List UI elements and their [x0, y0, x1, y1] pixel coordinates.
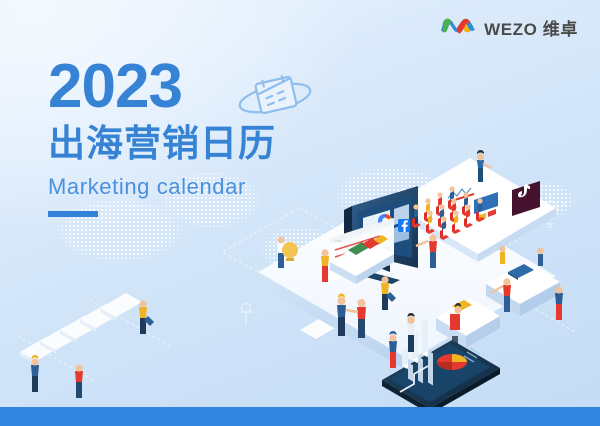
wezo-ribbon-logo [441, 14, 477, 40]
tablet-person-a [389, 331, 397, 368]
brand-logo[interactable]: WEZO 维卓 [441, 14, 578, 40]
footer-bar [0, 407, 600, 426]
page-title-year: 2023 [48, 56, 276, 118]
brand-wordmark: WEZO 维卓 [484, 15, 578, 40]
facebook-logo [398, 219, 410, 232]
lounge-person-a [321, 249, 329, 282]
pedestrian-b [75, 364, 83, 398]
title-underline-rule [48, 211, 98, 217]
pedestrian-c [139, 300, 154, 334]
page-title-cn: 出海营销日历 [48, 124, 276, 164]
pedestrian-e [555, 286, 563, 320]
pedestrian-a [31, 355, 39, 392]
page-subtitle-en: Marketing calendar [48, 175, 276, 199]
pie-chart [437, 354, 467, 370]
poster-canvas: 2023 出海营销日历 Marketing calendar WEZO 维卓 [0, 0, 600, 426]
headline-block: 2023 出海营销日历 Marketing calendar [48, 56, 276, 217]
tablet-person-b [407, 313, 415, 352]
